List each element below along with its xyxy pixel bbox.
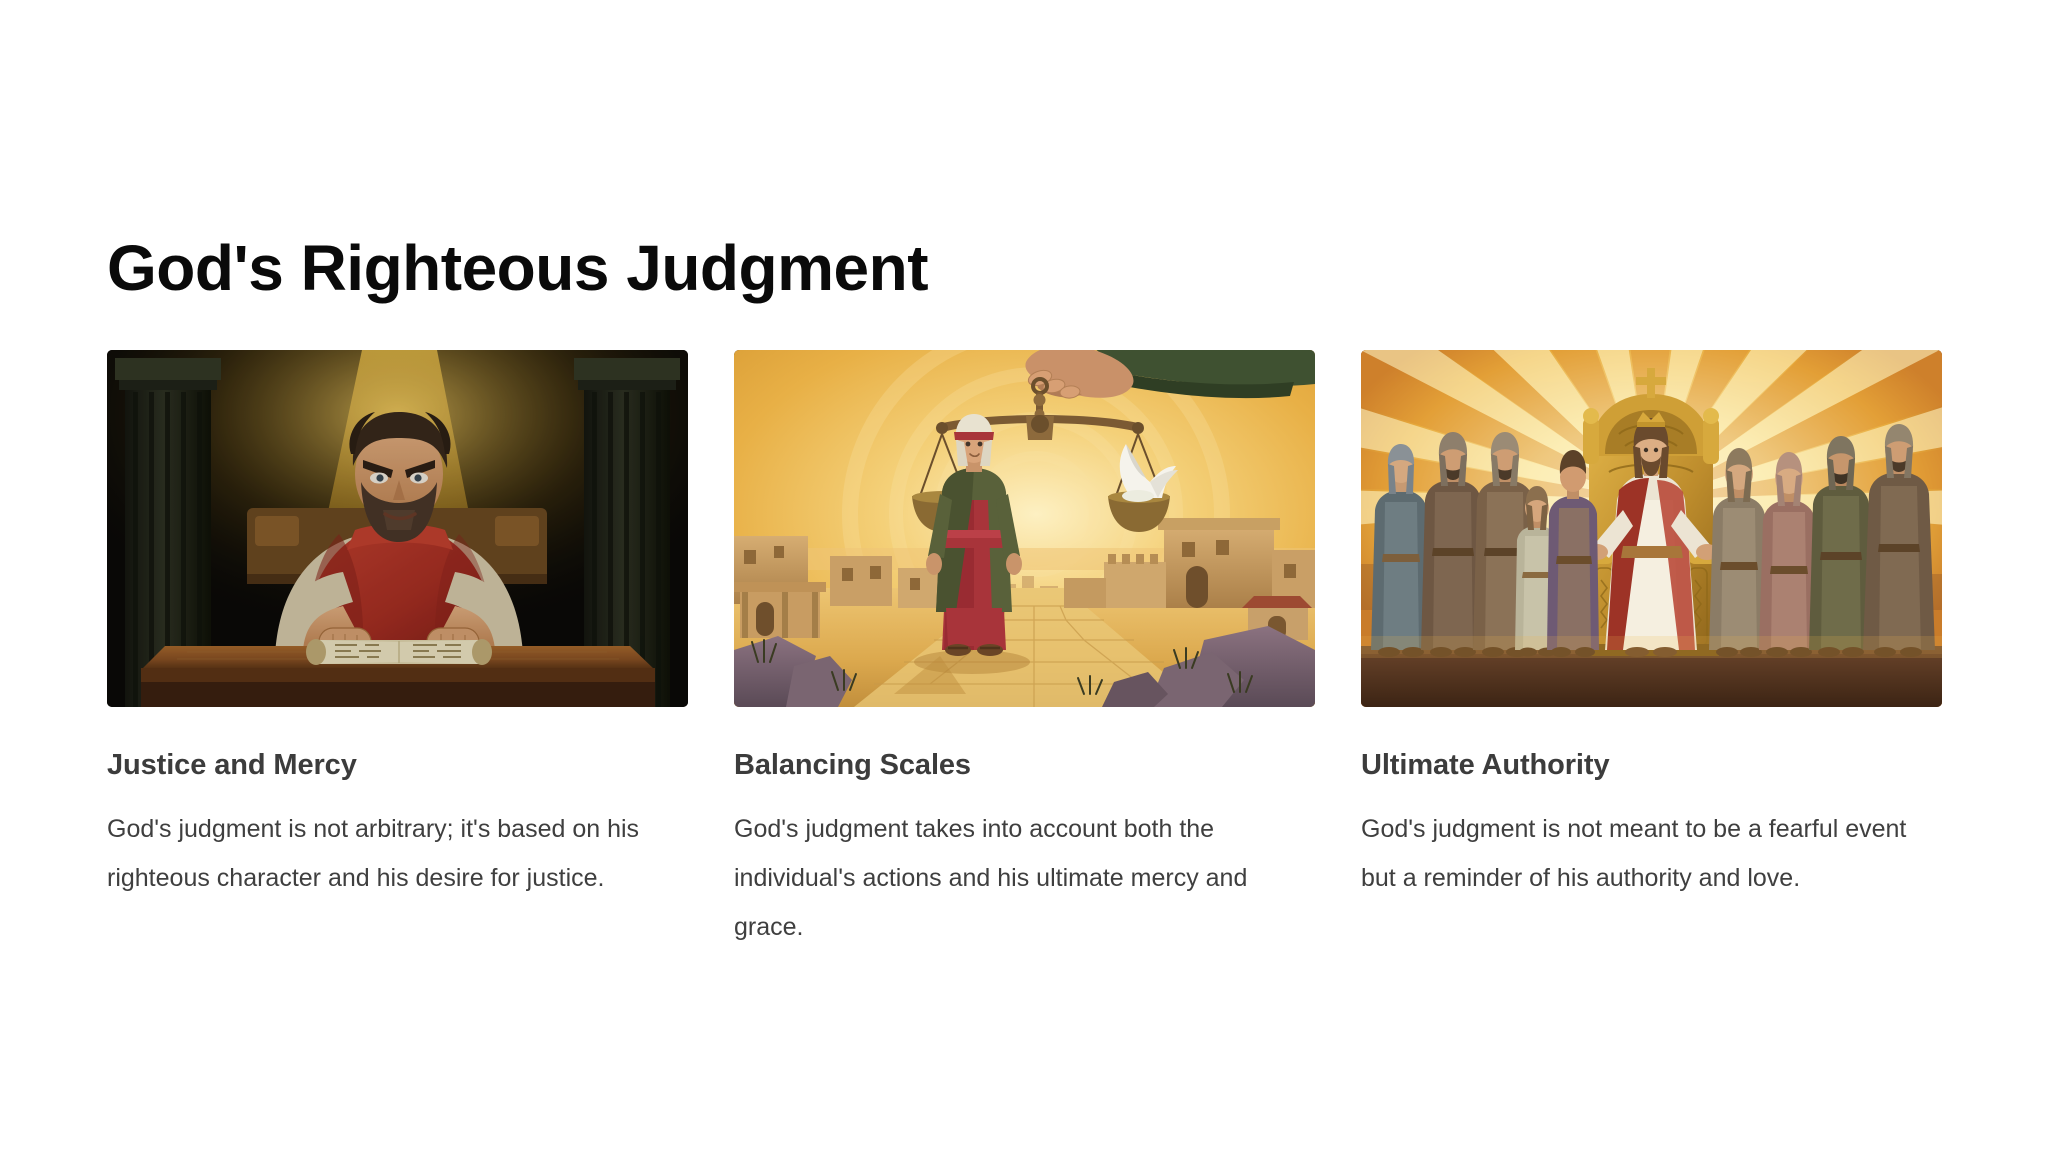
- card-ultimate-authority[interactable]: Ultimate Authority God's judgment is not…: [1361, 350, 1942, 952]
- card-justice-and-mercy[interactable]: Justice and Mercy God's judgment is not …: [107, 350, 688, 952]
- card-body: God's judgment takes into account both t…: [734, 805, 1294, 952]
- card-body: God's judgment is not meant to be a fear…: [1361, 805, 1921, 903]
- judge-at-desk-illustration: [107, 350, 688, 707]
- card-body: God's judgment is not arbitrary; it's ba…: [107, 805, 667, 903]
- card-grid: Justice and Mercy God's judgment is not …: [107, 350, 1941, 952]
- throne-and-crowd-illustration: [1361, 350, 1942, 707]
- card-title: Justice and Mercy: [107, 747, 688, 783]
- card-title: Ultimate Authority: [1361, 747, 1942, 783]
- card-balancing-scales[interactable]: Balancing Scales God's judgment takes in…: [734, 350, 1315, 952]
- page-title: God's Righteous Judgment: [107, 229, 928, 307]
- hand-from-above: [1025, 350, 1315, 399]
- card-title: Balancing Scales: [734, 747, 1315, 783]
- balancing-scales-illustration: [734, 350, 1315, 707]
- page-root: God's Righteous Judgment: [0, 0, 2048, 1152]
